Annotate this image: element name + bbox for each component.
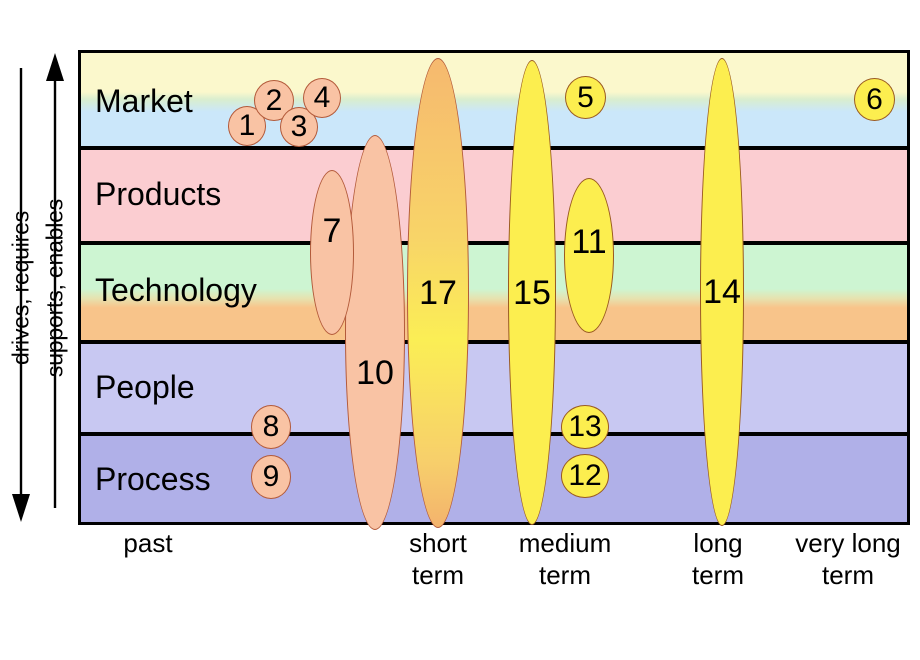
roadmap-frame: Market Products Technology People Proces… — [78, 50, 910, 525]
roadmap-item-5-label: 5 — [577, 83, 594, 113]
time-tick-very-long-term-line1: very long — [768, 528, 920, 560]
time-tick-long-term-line2: term — [653, 560, 783, 592]
roadmap-item-13-label: 13 — [568, 412, 601, 442]
divider-products-technology — [81, 241, 907, 245]
roadmap-item-4-label: 4 — [314, 83, 331, 113]
drives-requires-label: drives, requires — [8, 210, 35, 364]
time-tick-medium-term: medium term — [490, 528, 640, 591]
roadmap-item-15[interactable]: 15 — [508, 60, 556, 525]
roadmap-item-5[interactable]: 5 — [565, 76, 606, 119]
band-market — [81, 53, 907, 146]
roadmap-item-8-label: 8 — [263, 412, 280, 442]
roadmap-item-11-label: 11 — [571, 225, 606, 259]
time-tick-short-term-line1: short — [373, 528, 503, 560]
roadmap-item-15-label: 15 — [513, 276, 551, 310]
band-people — [81, 344, 907, 432]
roadmap-item-6[interactable]: 6 — [854, 78, 895, 121]
roadmap-item-14[interactable]: 14 — [700, 58, 744, 526]
divider-technology-people — [81, 340, 907, 344]
time-tick-short-term: short term — [373, 528, 503, 591]
relationship-axis-group: drives, requires supports, enables — [0, 50, 78, 525]
roadmap-item-11[interactable]: 11 — [564, 178, 614, 333]
divider-people-process — [81, 432, 907, 436]
roadmap-item-12[interactable]: 12 — [561, 454, 609, 498]
supports-enables-label: supports, enables — [42, 198, 69, 376]
time-tick-medium-term-line2: term — [490, 560, 640, 592]
time-tick-very-long-term: very long term — [768, 528, 920, 591]
roadmap-item-17[interactable]: 17 — [407, 58, 469, 528]
roadmap-diagram: drives, requires supports, enables Marke… — [0, 0, 920, 660]
roadmap-item-12-label: 12 — [568, 461, 601, 491]
band-technology — [81, 245, 907, 340]
roadmap-item-10[interactable]: 10 — [345, 135, 405, 530]
time-axis: past short term medium term long term ve… — [78, 528, 910, 638]
roadmap-item-3-label: 3 — [291, 112, 308, 142]
time-tick-past-line1: past — [78, 528, 218, 560]
roadmap-item-2-label: 2 — [266, 86, 283, 116]
roadmap-item-8[interactable]: 8 — [251, 405, 291, 449]
roadmap-item-14-label: 14 — [703, 275, 741, 309]
time-tick-short-term-line2: term — [373, 560, 503, 592]
time-tick-past: past — [78, 528, 218, 560]
time-tick-long-term-line1: long — [653, 528, 783, 560]
roadmap-item-17-label: 17 — [419, 276, 457, 310]
roadmap-item-6-label: 6 — [866, 85, 883, 115]
roadmap-item-1-label: 1 — [239, 111, 256, 141]
drives-requires-axis: drives, requires — [4, 50, 38, 525]
time-tick-very-long-term-line2: term — [768, 560, 920, 592]
roadmap-item-7[interactable]: 7 — [310, 170, 354, 335]
band-process — [81, 436, 907, 522]
supports-enables-axis: supports, enables — [38, 50, 72, 525]
roadmap-item-9[interactable]: 9 — [251, 455, 291, 499]
roadmap-item-13[interactable]: 13 — [561, 405, 609, 449]
band-products — [81, 150, 907, 241]
roadmap-item-7-label: 7 — [323, 214, 342, 248]
roadmap-item-10-label: 10 — [356, 356, 394, 390]
roadmap-item-9-label: 9 — [263, 462, 280, 492]
time-tick-medium-term-line1: medium — [490, 528, 640, 560]
roadmap-item-4[interactable]: 4 — [303, 78, 341, 118]
time-tick-long-term: long term — [653, 528, 783, 591]
divider-market-products — [81, 146, 907, 150]
